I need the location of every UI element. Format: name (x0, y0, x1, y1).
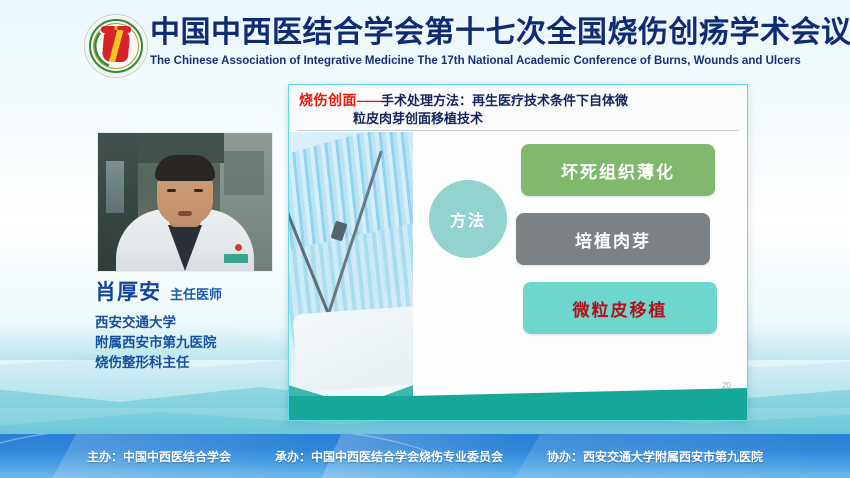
slide-title-main-line2: 粒皮肉芽创面移植技术 (353, 110, 745, 128)
step-box-2-label: 培植肉芽 (575, 227, 651, 252)
slide-title-highlight: 烧伤创面 (299, 92, 357, 108)
broadcast-stage: 中国中西医结合学会第十七次全国烧伤创疡学术会议 The Chinese Asso… (0, 0, 850, 478)
cloth-graphic (292, 306, 413, 393)
presenter-eye-right (194, 189, 203, 192)
presenter-lapel-pin (235, 244, 242, 251)
presentation-slide[interactable]: 烧伤创面——手术处理方法：再生医疗技术条件下自体微 粒皮肉芽创面移植技术 方法 … (288, 84, 748, 421)
sponsor-footer: 主办：中国中西医结合学会 承办：中国中西医结合学会烧伤专业委员会 协办：西安交通… (0, 434, 850, 478)
method-circle: 方法 (429, 180, 507, 258)
conference-title-cn: 中国中西医结合学会第十七次全国烧伤创疡学术会议 (150, 14, 770, 52)
presenter-video-feed[interactable] (97, 132, 273, 272)
step-box-3[interactable]: 微粒皮移植 (523, 282, 717, 334)
method-circle-label: 方法 (450, 207, 486, 231)
slide-header: 烧伤创面——手术处理方法：再生医疗技术条件下自体微 粒皮肉芽创面移植技术 (289, 85, 747, 131)
step-box-1[interactable]: 坏死组织薄化 (521, 144, 715, 196)
footer-row: 主办：中国中西医结合学会 承办：中国中西医结合学会烧伤专业委员会 协办：西安交通… (0, 434, 850, 478)
slide-title-divider (297, 130, 739, 131)
slide-footer-band (289, 396, 747, 420)
step-box-2[interactable]: 培植肉芽 (516, 213, 710, 265)
conference-header: 中国中西医结合学会第十七次全国烧伤创疡学术会议 The Chinese Asso… (0, 0, 850, 80)
logo-emblem-icon (102, 30, 131, 62)
slide-title-dash: —— (357, 93, 381, 108)
slide-body: 方法 坏死组织薄化 培植肉芽 微粒皮移植 (413, 132, 747, 420)
method-steps: 坏死组织薄化 培植肉芽 微粒皮移植 (521, 144, 731, 351)
slide-title: 烧伤创面——手术处理方法：再生医疗技术条件下自体微 粒皮肉芽创面移植技术 (299, 91, 745, 128)
conference-title-en: The Chinese Association of Integrative M… (150, 54, 790, 68)
footer-undertaker: 承办：中国中西医结合学会烧伤专业委员会 (275, 448, 503, 465)
slide-photo (289, 132, 413, 420)
step-box-1-label: 坏死组织薄化 (561, 158, 675, 183)
conference-logo-icon (84, 14, 148, 78)
presenter-eye-left (167, 189, 176, 192)
step-box-3-label: 微粒皮移植 (573, 296, 668, 321)
footer-organizer: 主办：中国中西医结合学会 (87, 448, 231, 465)
presenter-hair (155, 155, 215, 181)
presenter-mouth (178, 211, 192, 216)
footer-co-organizer: 协办：西安交通大学附属西安市第九医院 (547, 448, 763, 465)
slide-title-main-line1: 手术处理方法：再生医疗技术条件下自体微 (381, 93, 628, 108)
presenter-name-badge (224, 254, 248, 263)
presenter-role: 主任医师 (170, 284, 222, 303)
presenter-name: 肖厚安 (95, 276, 161, 306)
